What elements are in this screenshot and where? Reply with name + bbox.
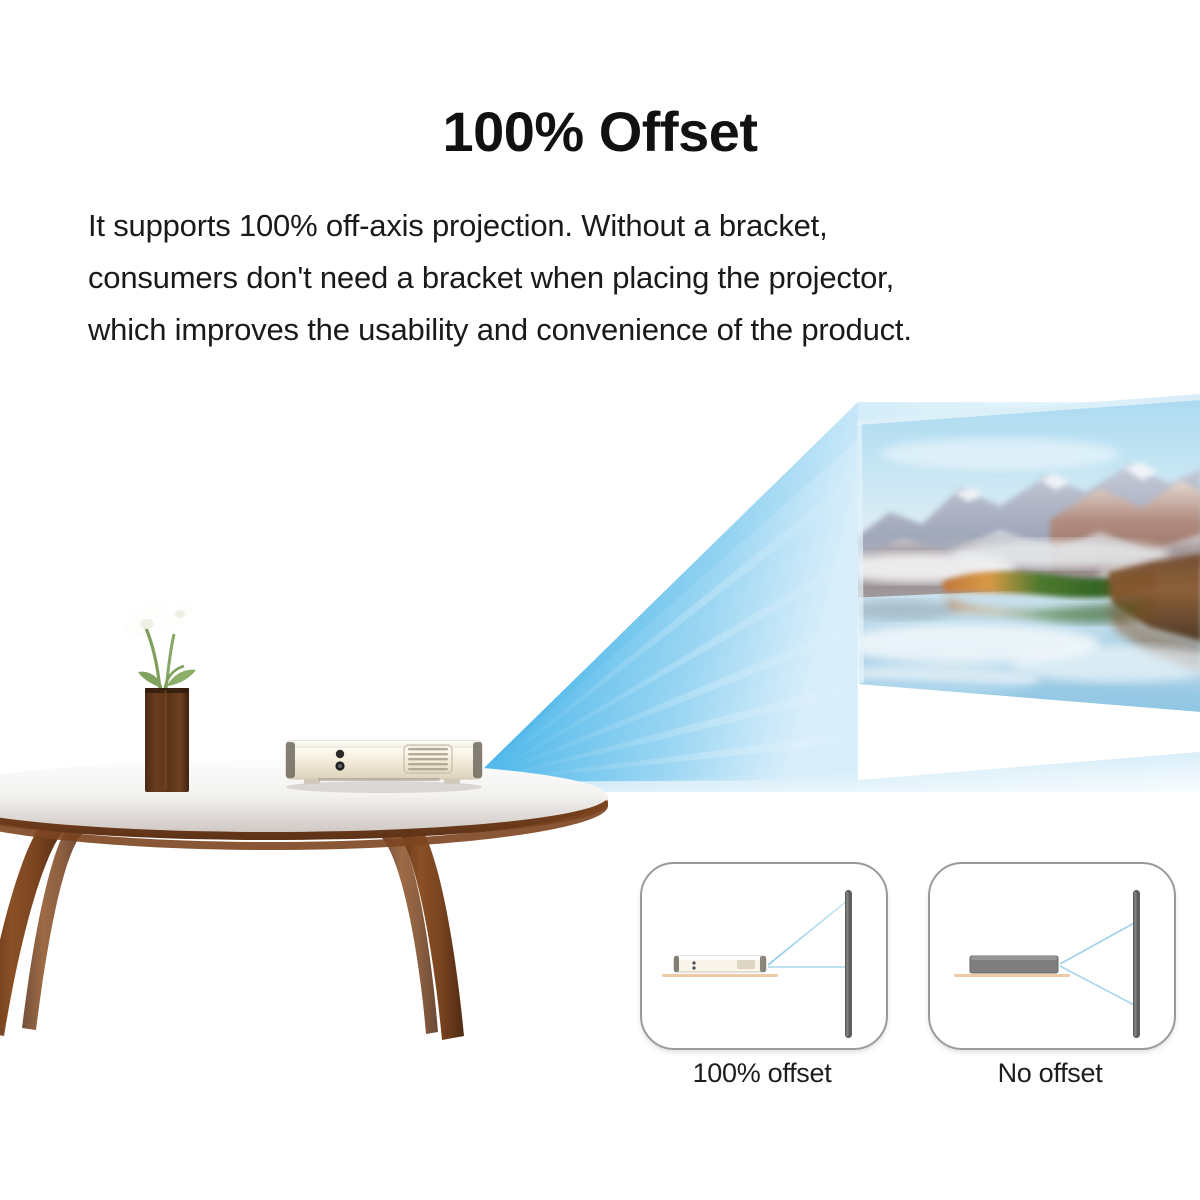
mid-century-oval-coffee-table <box>0 750 610 1090</box>
wooden-vase-with-white-orchids <box>112 578 222 808</box>
page-title: 100% Offset <box>0 104 1200 160</box>
offset-100-illustration <box>642 864 886 1048</box>
diagram-panel-100-offset[interactable] <box>640 862 888 1050</box>
description-line-3: which improves the usability and conveni… <box>88 304 1158 356</box>
diagram-label-no-offset: No offset <box>928 1058 1172 1089</box>
description-line-2: consumers don't need a bracket when plac… <box>88 252 1158 304</box>
description-paragraph: It supports 100% off-axis projection. Wi… <box>88 200 1158 356</box>
offset-comparison-diagrams: 100% offset No offset <box>630 862 1170 1122</box>
projected-mountain-lake-landscape <box>850 392 1200 764</box>
diagram-label-100-offset: 100% offset <box>640 1058 884 1089</box>
offset-none-illustration <box>930 864 1174 1048</box>
diagram-panel-no-offset[interactable] <box>928 862 1176 1050</box>
portable-dlp-projector <box>278 735 490 797</box>
description-line-1: It supports 100% off-axis projection. Wi… <box>88 200 1158 252</box>
